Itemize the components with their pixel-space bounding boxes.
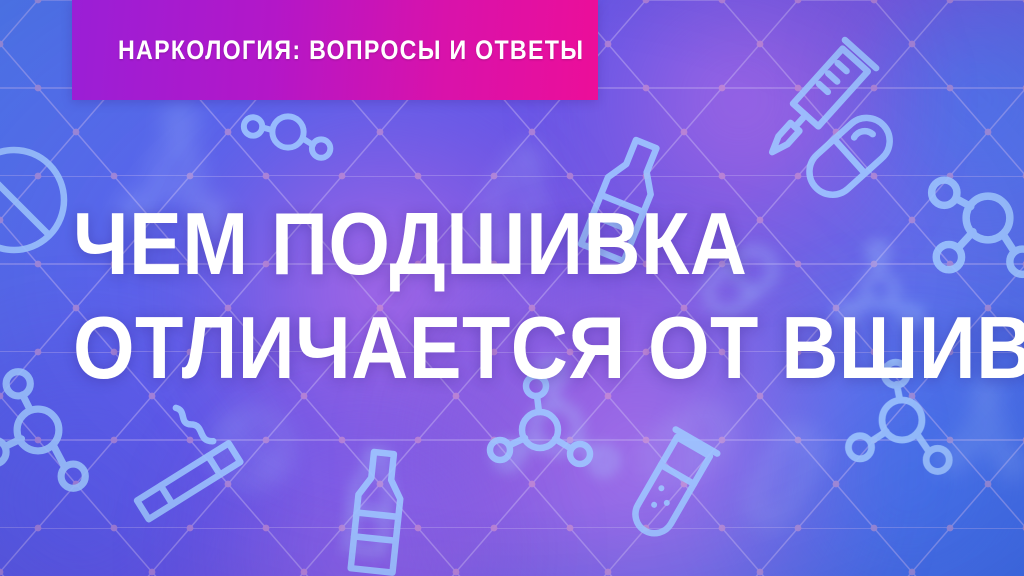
banner-canvas: НАРКОЛОГИЯ: ВОПРОСЫ И ОТВЕТЫ ЧЕМ ПОДШИВК… bbox=[0, 0, 1024, 576]
tablet-pill-icon bbox=[0, 150, 64, 250]
category-badge-label: НАРКОЛОГИЯ: ВОПРОСЫ И ОТВЕТЫ bbox=[118, 37, 584, 64]
category-badge: НАРКОЛОГИЯ: ВОПРОСЫ И ОТВЕТЫ bbox=[72, 0, 598, 100]
cigarette-icon bbox=[106, 394, 240, 519]
syringe-icon bbox=[757, 40, 877, 166]
molecule-icon bbox=[244, 116, 330, 157]
test-tube-icon bbox=[624, 430, 717, 543]
wine-bottle-icon bbox=[351, 451, 405, 573]
headline-line-2: ОТЛИЧАЕТСЯ ОТ ВШИВАНИЯ bbox=[73, 304, 883, 392]
headline: ЧЕМ ПОДШИВКА ОТЛИЧАЕТСЯ ОТ ВШИВАНИЯ bbox=[73, 200, 973, 392]
headline-line-1: ЧЕМ ПОДШИВКА bbox=[73, 200, 883, 288]
